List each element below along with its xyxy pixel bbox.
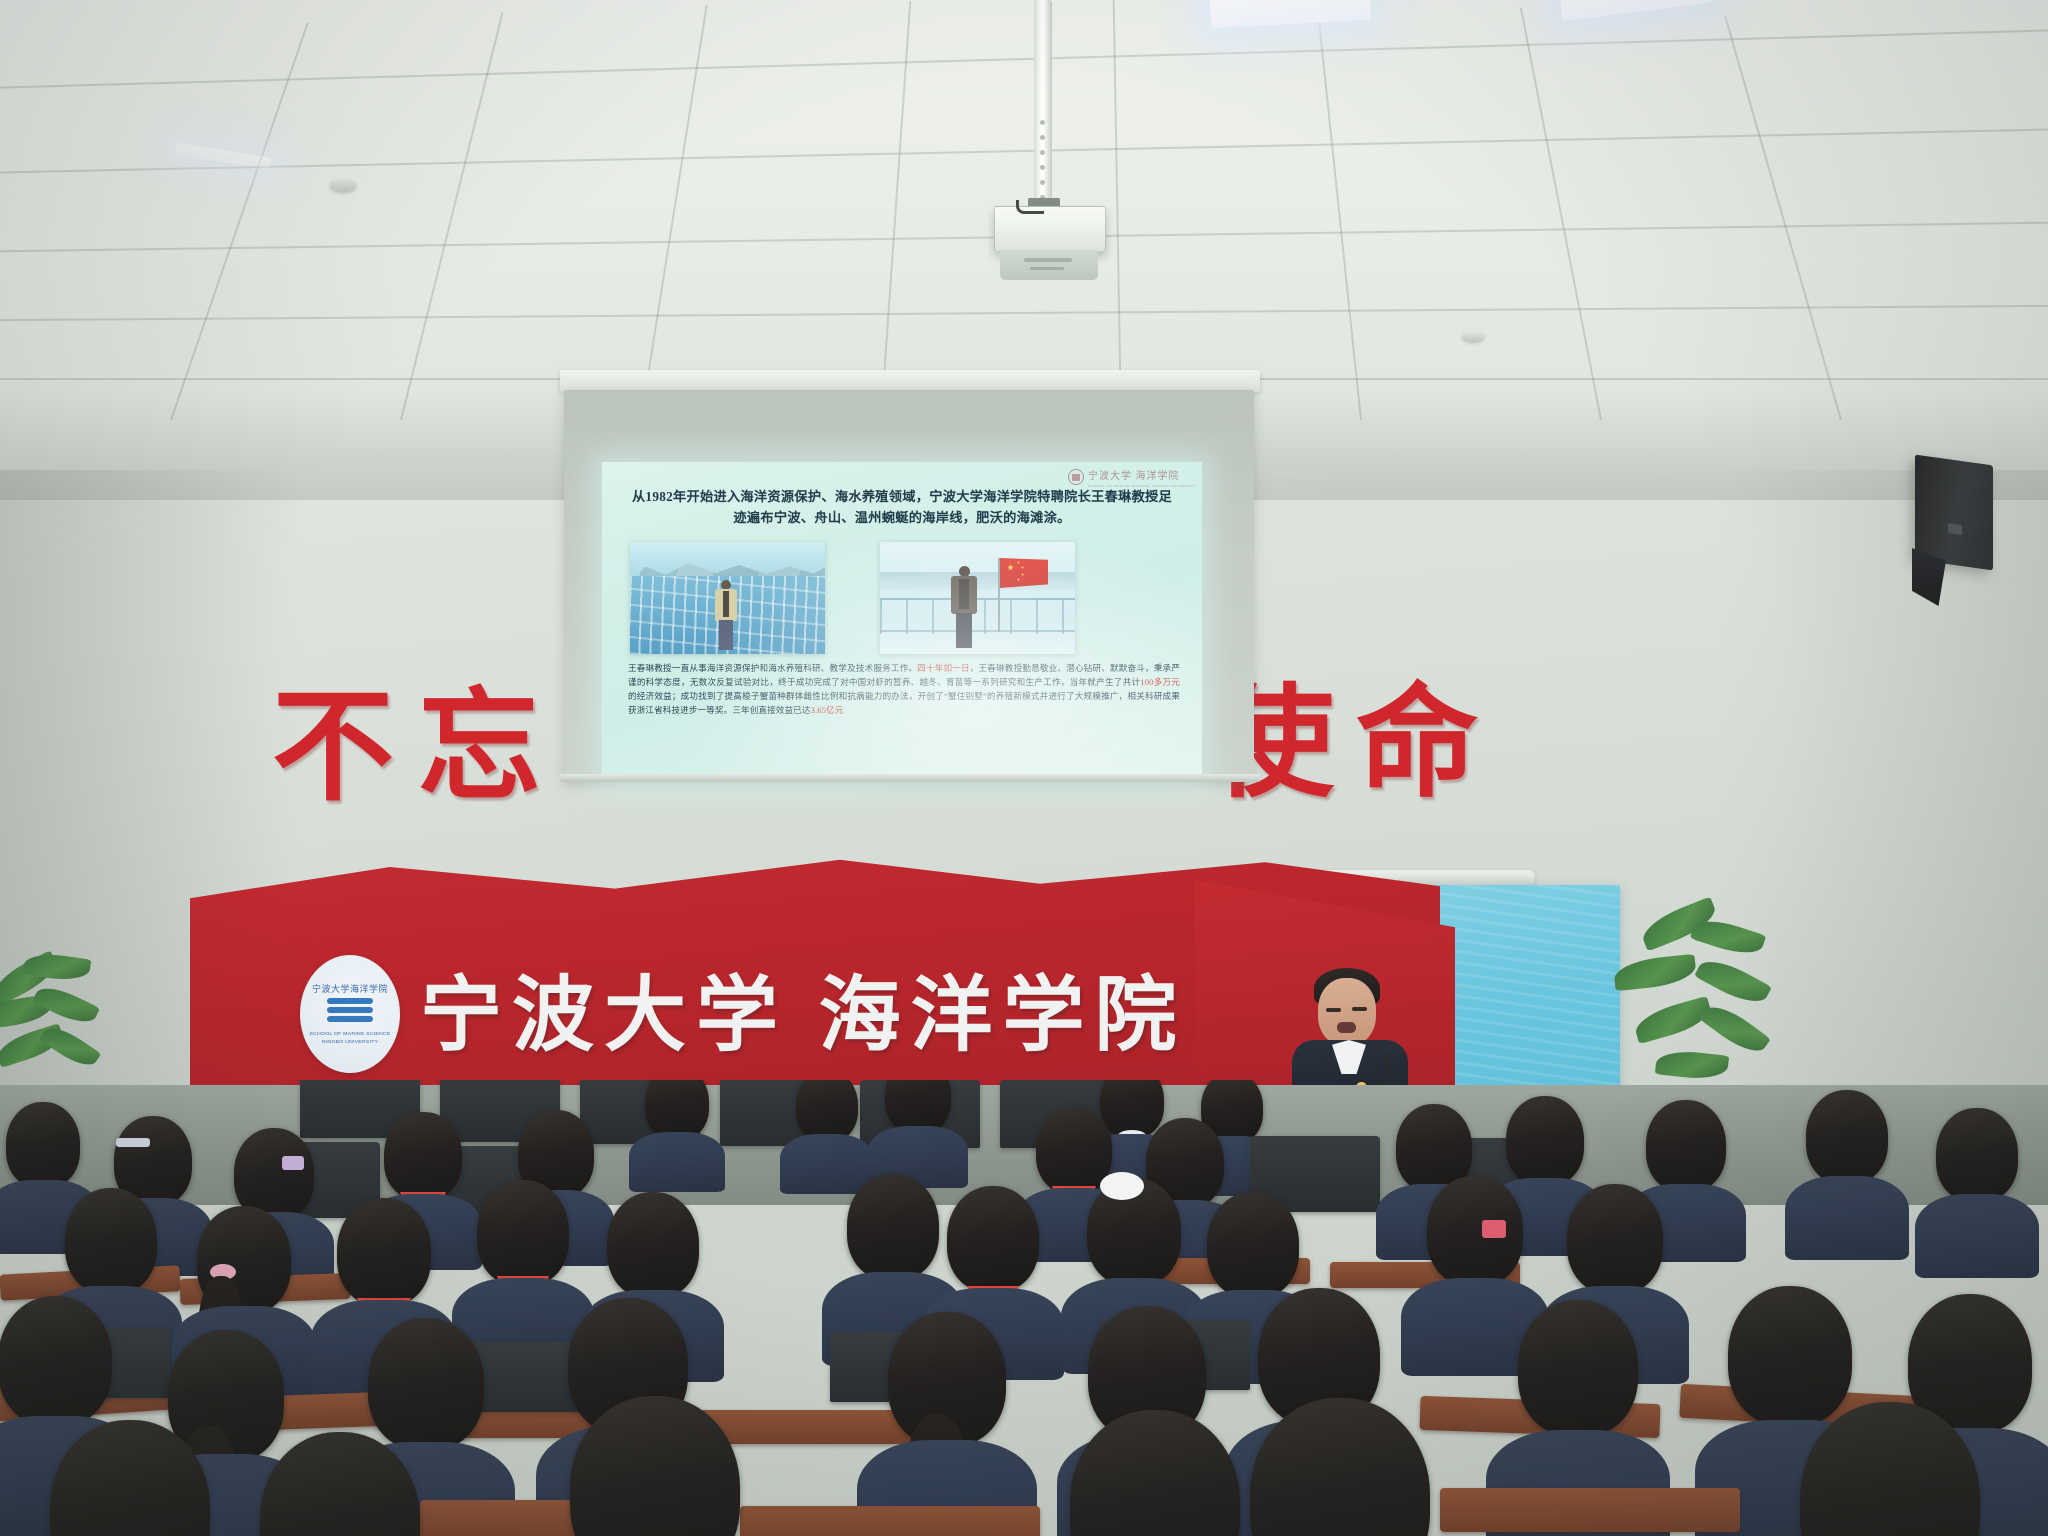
- slide-body-highlight: 四十年如一日: [917, 663, 970, 673]
- slide-body-highlight: 3.65亿元: [811, 705, 844, 715]
- slide-title-text: 从1982年开始进入海洋资源保护、海水养殖领域，宁波大学海洋学院特聘院长王春琳教…: [628, 486, 1176, 529]
- hair-clip-icon: [282, 1156, 304, 1170]
- audience-member: [1060, 1410, 1250, 1536]
- emblem-english-line-2: NINGBO UNIVERSITY: [322, 1039, 378, 1046]
- slide-logo: 宁波大学 海洋学院 SCHOOL OF MARINE SCIENCE, NING…: [1068, 466, 1196, 488]
- photo-person-figure: [714, 580, 738, 650]
- projector-underside: [1000, 250, 1098, 280]
- presenter-mouth: [1337, 1022, 1356, 1033]
- hair-clip-icon: [1482, 1220, 1506, 1238]
- ceiling-projector: [990, 0, 1110, 290]
- hair-clip-icon: [116, 1138, 150, 1147]
- slide-logo-mark-icon: [1068, 469, 1084, 485]
- audience-member: [1790, 1402, 1990, 1536]
- audience-member: [880, 1312, 1014, 1536]
- smoke-detector: [1462, 330, 1484, 341]
- projector-cable: [1016, 200, 1044, 214]
- ceiling-light-panel: [1558, 0, 1712, 21]
- stage-banner-text: 宁波大学 海洋学院: [420, 948, 1187, 1067]
- auditorium-photo-scene: 不忘 使命 宁波大学 海洋学院 SCHOOL OF MARINE SCIENCE…: [0, 0, 2048, 1536]
- screen-weight-bar: [560, 774, 1260, 782]
- slide-body-text: 王春琳教授一直从事海洋资源保护和海水养殖科研、教学及技术服务工作。四十年如一日，…: [628, 662, 1180, 718]
- audience-member: [250, 1432, 430, 1536]
- ceiling-light-panel: [175, 143, 272, 170]
- photo-person-figure: [950, 566, 978, 648]
- slide-photo-row: [630, 542, 1178, 654]
- screen-roller-case: [560, 370, 1260, 392]
- slogan-char-1: 不忘: [272, 688, 564, 810]
- audience-area: [0, 1080, 2048, 1536]
- audience-member: [560, 1396, 750, 1536]
- emblem-english-line-1: SCHOOL OF MARINE SCIENCE: [309, 1032, 390, 1039]
- jbl-logo-icon: [1948, 523, 1962, 535]
- hair-scrunchie-icon: [1100, 1172, 1144, 1200]
- china-flag-icon: [1000, 558, 1048, 588]
- chair-armrest: [740, 1506, 1040, 1536]
- projector-body: [994, 206, 1106, 252]
- audience-member: [1800, 1090, 1894, 1260]
- slide-body-segment: 的经济效益；成功找到了提高梭子蟹苗种群体雌性比例和抗病能力的办法，开创了“蟹住别…: [628, 691, 1180, 715]
- emblem-chinese-text: 宁波大学海洋学院: [312, 982, 388, 995]
- university-emblem: 宁波大学海洋学院 SCHOOL OF MARINE SCIENCE NINGBO…: [300, 955, 400, 1073]
- slide-photo-ship-with-flag: [880, 542, 1075, 654]
- projected-slide: 宁波大学 海洋学院 SCHOOL OF MARINE SCIENCE, NING…: [602, 462, 1202, 782]
- audience-member: [40, 1420, 220, 1536]
- audience-member: [640, 1080, 714, 1186]
- slide-body-segment: 王春琳教授一直从事海洋资源保护和海水养殖科研、教学及技术服务工作。: [628, 663, 917, 673]
- photo-flagpole: [998, 558, 1000, 632]
- projector-pole-holes: [1040, 120, 1045, 210]
- wall-speaker: [1915, 455, 1993, 571]
- slide-body-highlight: 100多万元: [1140, 677, 1180, 687]
- wave-emblem-icon: [327, 998, 373, 1028]
- smoke-detector: [330, 178, 356, 191]
- audience-member: [1930, 1108, 2024, 1278]
- ceiling-light-panel: [1209, 0, 1371, 28]
- presenter-head: [1318, 978, 1376, 1046]
- audience-member: [1240, 1398, 1440, 1536]
- slide-photo-aquaculture-rafts: [630, 542, 825, 654]
- slide-logo-chinese: 宁波大学 海洋学院: [1088, 471, 1180, 482]
- audience-member: [880, 1080, 956, 1184]
- chair-armrest: [1440, 1488, 1740, 1532]
